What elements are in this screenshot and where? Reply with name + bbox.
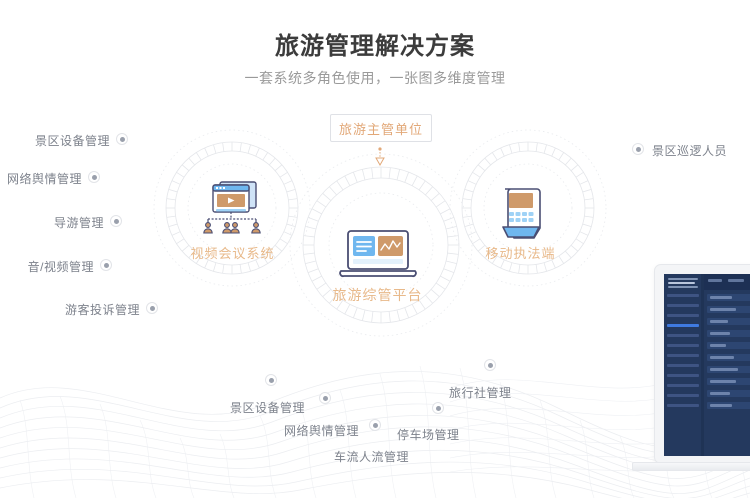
page-subtitle: 一套系统多角色使用，一张图多维度管理	[0, 68, 750, 88]
bottom-connector-dot-3	[432, 402, 444, 414]
left-label-3: 音/视频管理	[0, 258, 94, 275]
bottom-connector-dot-0	[265, 374, 277, 386]
node-center[interactable]: 旅游综管平台	[305, 285, 450, 305]
authority-box[interactable]: 旅游主管单位	[330, 114, 432, 142]
node-left-label: 视频会议系统	[160, 243, 305, 262]
laptop-dashboard-icon	[337, 230, 419, 280]
left-connector-dot-1	[88, 171, 100, 183]
left-label-0: 景区设备管理	[0, 132, 110, 149]
bottom-label-1: 网络舆情管理	[284, 422, 359, 439]
node-center-label: 旅游综管平台	[305, 285, 450, 305]
bottom-label-3: 停车场管理	[397, 426, 460, 443]
mockup-topbar	[704, 274, 750, 290]
video-conference-icon	[198, 180, 266, 235]
solution-diagram-page: 旅游管理解决方案 一套系统多角色使用，一张图多维度管理 旅游主管单位	[0, 0, 750, 498]
mockup-main-panel	[704, 274, 750, 456]
node-right[interactable]: 移动执法端	[448, 243, 593, 262]
mockup-brand-logo	[668, 278, 698, 287]
right-connector-dot-0	[632, 143, 644, 155]
chevron-down-icon	[370, 146, 390, 168]
left-connector-dot-2	[110, 215, 122, 227]
left-label-2: 导游管理	[0, 214, 104, 231]
authority-label: 旅游主管单位	[339, 119, 423, 138]
mockup-screen	[664, 274, 750, 456]
page-title: 旅游管理解决方案	[0, 26, 750, 61]
mockup-sidebar	[664, 274, 701, 456]
right-label-0: 景区巡逻人员	[652, 142, 727, 159]
mockup-bezel	[654, 264, 750, 464]
bottom-connector-dot-2	[369, 419, 381, 431]
mockup-laptop-base	[632, 462, 750, 471]
right-connector-lines	[560, 130, 660, 170]
node-right-label: 移动执法端	[448, 243, 593, 262]
laptop-mockup	[636, 256, 750, 486]
left-connector-dot-3	[100, 259, 112, 271]
bottom-connector-dot-4	[484, 359, 496, 371]
bottom-connector-dot-1	[319, 392, 331, 404]
left-connector-dot-4	[146, 302, 158, 314]
bottom-label-0: 景区设备管理	[230, 399, 305, 416]
bottom-label-4: 旅行社管理	[449, 384, 512, 401]
bottom-label-2: 车流人流管理	[334, 448, 409, 465]
left-connector-dot-0	[116, 133, 128, 145]
mockup-sidebar-menu	[667, 294, 699, 414]
left-label-4: 游客投诉管理	[0, 301, 140, 318]
node-left[interactable]: 视频会议系统	[160, 243, 305, 262]
mobile-device-icon	[498, 186, 544, 242]
left-label-1: 网络舆情管理	[0, 170, 82, 187]
mockup-tree-rows	[707, 294, 750, 414]
